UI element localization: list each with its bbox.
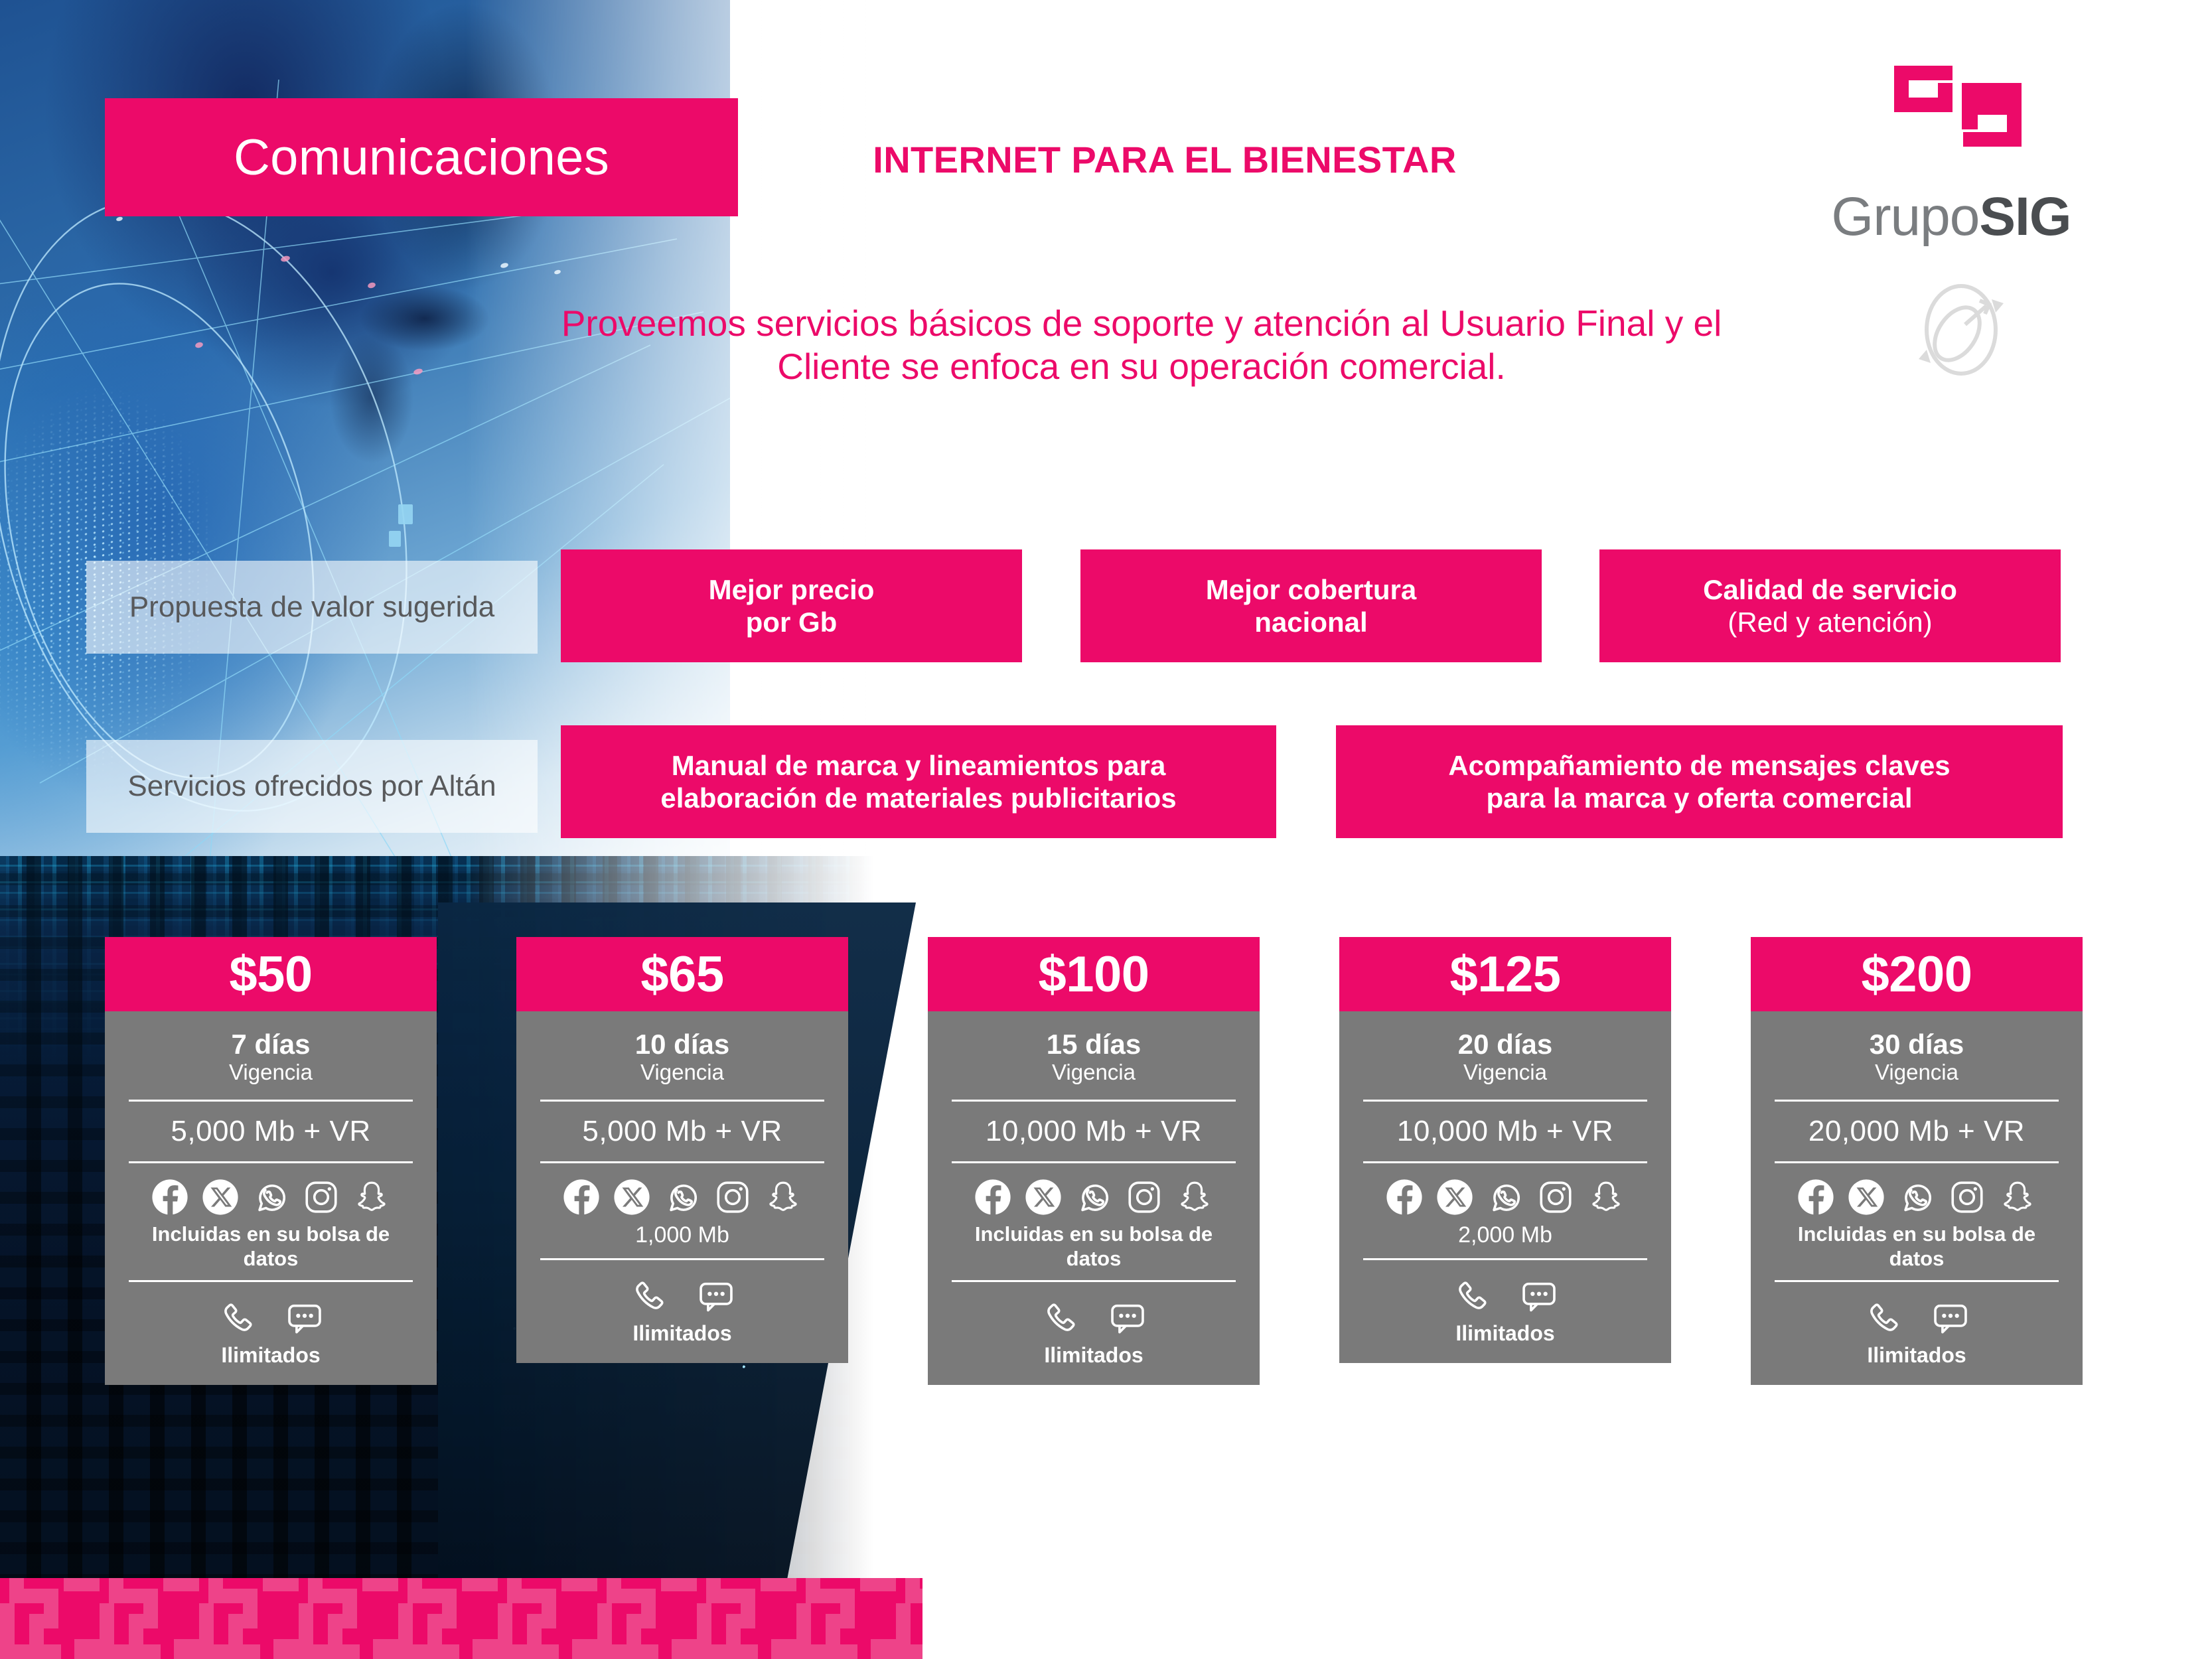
x-twitter-icon: [1436, 1178, 1474, 1216]
headline: INTERNET PARA EL BIENESTAR: [750, 138, 1580, 181]
whatsapp-icon: [663, 1178, 701, 1216]
chat-bubble-icon: [285, 1299, 324, 1338]
communication-icons-row: [218, 1299, 324, 1338]
chat-bubble-icon: [697, 1277, 735, 1316]
social-note: Incluidas en su bolsa de datos: [129, 1222, 413, 1271]
whatsapp-icon: [1074, 1178, 1113, 1216]
value-prop-1-line2: por Gb: [709, 606, 875, 638]
instagram-icon: [1125, 1178, 1163, 1216]
social-icons-row: [1385, 1178, 1625, 1216]
divider: [129, 1161, 413, 1163]
price-card-body: 7 días Vigencia 5,000 Mb + VR Incluidas …: [105, 1011, 437, 1385]
brand-word-grupo: Grupo: [1831, 186, 1979, 247]
validity-label: Vigencia: [229, 1060, 313, 1085]
value-prop-box-3[interactable]: Calidad de servicio (Red y atención): [1599, 549, 2061, 662]
chat-bubble-icon: [1520, 1277, 1558, 1316]
communication-icons-row: [1864, 1299, 1970, 1338]
greek-key-tile: [0, 1578, 100, 1659]
greek-key-tile: [398, 1578, 498, 1659]
service-box-1[interactable]: Manual de marca y lineamientos para elab…: [561, 725, 1276, 838]
phone-call-icon: [1864, 1299, 1902, 1338]
instagram-icon: [302, 1178, 340, 1216]
value-prop-2-line1: Mejor cobertura: [1206, 573, 1416, 606]
validity-label: Vigencia: [1875, 1060, 1958, 1085]
x-twitter-icon: [613, 1178, 651, 1216]
slide-canvas: Comunicaciones INTERNET PARA EL BIENESTA…: [0, 0, 2212, 1659]
price-card[interactable]: $100 15 días Vigencia 10,000 Mb + VR Inc…: [928, 937, 1260, 1385]
brand-wordmark: GrupoSIG: [1765, 186, 2137, 248]
social-icons-row: [151, 1178, 391, 1216]
greek-key-tile: [100, 1578, 199, 1659]
phone-call-icon: [1041, 1299, 1079, 1338]
data-allowance: 5,000 Mb + VR: [171, 1111, 370, 1152]
unlimited-label: Ilimitados: [1455, 1321, 1554, 1346]
snapchat-icon: [1998, 1178, 2037, 1216]
price-card-body: 15 días Vigencia 10,000 Mb + VR Incluida…: [928, 1011, 1260, 1385]
price-card-body: 20 días Vigencia 10,000 Mb + VR 2,000 Mb…: [1339, 1011, 1671, 1363]
unlimited-label: Ilimitados: [221, 1343, 320, 1368]
chat-bubble-icon: [1108, 1299, 1147, 1338]
divider: [952, 1100, 1236, 1102]
value-prop-1-line1: Mejor precio: [709, 573, 875, 606]
price-card[interactable]: $125 20 días Vigencia 10,000 Mb + VR 2,0…: [1339, 937, 1671, 1363]
service-1-line2: elaboración de materiales publicitarios: [660, 782, 1176, 814]
communication-icons-row: [1452, 1277, 1558, 1316]
validity-days: 10 días: [635, 1029, 729, 1060]
unlimited-label: Ilimitados: [1867, 1343, 1966, 1368]
brand-logo: GrupoSIG: [1765, 63, 2137, 401]
validity-label: Vigencia: [640, 1060, 724, 1085]
x-twitter-icon: [1024, 1178, 1063, 1216]
data-allowance: 10,000 Mb + VR: [986, 1111, 1202, 1152]
divider: [540, 1161, 824, 1163]
brand-word-sig: SIG: [1979, 186, 2071, 247]
page-title-chip: Comunicaciones: [105, 98, 738, 216]
social-note: Incluidas en su bolsa de datos: [1775, 1222, 2059, 1271]
divider: [1363, 1161, 1647, 1163]
service-box-2[interactable]: Acompañamiento de mensajes claves para l…: [1336, 725, 2063, 838]
row-label-propuesta-de-valor: Propuesta de valor sugerida: [86, 561, 538, 654]
chat-bubble-icon: [1931, 1299, 1970, 1338]
x-twitter-icon: [1847, 1178, 1885, 1216]
divider: [952, 1161, 1236, 1163]
data-allowance: 5,000 Mb + VR: [582, 1111, 782, 1152]
facebook-icon: [974, 1178, 1012, 1216]
validity-days: 30 días: [1870, 1029, 1964, 1060]
whatsapp-icon: [1486, 1178, 1524, 1216]
price-card-body: 10 días Vigencia 5,000 Mb + VR 1,000 Mb …: [516, 1011, 848, 1363]
communication-icons-row: [629, 1277, 735, 1316]
validity-label: Vigencia: [1463, 1060, 1547, 1085]
communication-icons-row: [1041, 1299, 1147, 1338]
price-card-price: $50: [105, 937, 437, 1011]
snapchat-icon: [1175, 1178, 1214, 1216]
snapchat-icon: [764, 1178, 802, 1216]
subheadline: Proveemos servicios básicos de soporte y…: [511, 302, 1772, 388]
validity-days: 20 días: [1458, 1029, 1552, 1060]
value-prop-3-line2: (Red y atención): [1703, 606, 1957, 638]
validity-label: Vigencia: [1052, 1060, 1136, 1085]
price-card[interactable]: $200 30 días Vigencia 20,000 Mb + VR Inc…: [1751, 937, 2083, 1385]
row-label-servicios-ofrecidos: Servicios ofrecidos por Altán: [86, 740, 538, 833]
price-card-price: $65: [516, 937, 848, 1011]
divider: [1775, 1280, 2059, 1282]
phone-call-icon: [1452, 1277, 1491, 1316]
satellite-dish-icon: [1908, 275, 2014, 382]
facebook-icon: [1385, 1178, 1424, 1216]
validity-days: 15 días: [1047, 1029, 1141, 1060]
data-allowance: 20,000 Mb + VR: [1808, 1111, 2025, 1152]
divider: [1775, 1100, 2059, 1102]
divider: [1363, 1258, 1647, 1260]
divider: [952, 1280, 1236, 1282]
divider: [1363, 1100, 1647, 1102]
facebook-icon: [1797, 1178, 1835, 1216]
greek-key-tile: [796, 1578, 896, 1659]
divider: [1775, 1161, 2059, 1163]
facebook-icon: [562, 1178, 601, 1216]
divider: [540, 1100, 824, 1102]
phone-call-icon: [629, 1277, 668, 1316]
price-card-body: 30 días Vigencia 20,000 Mb + VR Incluida…: [1751, 1011, 2083, 1385]
greek-key-pattern-band: [0, 1578, 922, 1659]
greek-key-tile: [199, 1578, 299, 1659]
value-prop-box-1[interactable]: Mejor precio por Gb: [561, 549, 1022, 662]
service-2-line1: Acompañamiento de mensajes claves: [1448, 749, 1950, 782]
price-card-price: $200: [1751, 937, 2083, 1011]
price-card-price: $125: [1339, 937, 1671, 1011]
value-prop-3-line1: Calidad de servicio: [1703, 573, 1957, 606]
value-prop-2-line2: nacional: [1206, 606, 1416, 638]
facebook-icon: [151, 1178, 189, 1216]
unlimited-label: Ilimitados: [1044, 1343, 1143, 1368]
value-prop-box-2[interactable]: Mejor cobertura nacional: [1080, 549, 1542, 662]
x-twitter-icon: [201, 1178, 240, 1216]
price-card[interactable]: $65 10 días Vigencia 5,000 Mb + VR 1,000…: [516, 937, 848, 1363]
social-icons-row: [1797, 1178, 2037, 1216]
service-1-line1: Manual de marca y lineamientos para: [660, 749, 1176, 782]
service-2-line2: para la marca y oferta comercial: [1448, 782, 1950, 814]
page-title: Comunicaciones: [234, 129, 609, 186]
instagram-icon: [1948, 1178, 1986, 1216]
whatsapp-icon: [252, 1178, 290, 1216]
phone-call-icon: [218, 1299, 256, 1338]
unlimited-label: Ilimitados: [632, 1321, 731, 1346]
grupo-sig-mark-icon: [1891, 63, 2024, 149]
whatsapp-icon: [1897, 1178, 1936, 1216]
greek-key-tile: [597, 1578, 697, 1659]
snapchat-icon: [352, 1178, 391, 1216]
price-card[interactable]: $50 7 días Vigencia 5,000 Mb + VR Inclui…: [105, 937, 437, 1385]
social-note: 1,000 Mb: [635, 1222, 729, 1249]
instagram-icon: [1536, 1178, 1575, 1216]
divider: [129, 1100, 413, 1102]
social-note: 2,000 Mb: [1458, 1222, 1552, 1249]
instagram-icon: [713, 1178, 752, 1216]
price-card-price: $100: [928, 937, 1260, 1011]
data-allowance: 10,000 Mb + VR: [1397, 1111, 1613, 1152]
greek-key-tile: [896, 1578, 922, 1659]
greek-key-tile: [697, 1578, 796, 1659]
social-icons-row: [974, 1178, 1214, 1216]
social-note: Incluidas en su bolsa de datos: [952, 1222, 1236, 1271]
greek-key-tile: [498, 1578, 597, 1659]
validity-days: 7 días: [231, 1029, 310, 1060]
divider: [129, 1280, 413, 1282]
divider: [540, 1258, 824, 1260]
social-icons-row: [562, 1178, 802, 1216]
snapchat-icon: [1587, 1178, 1625, 1216]
greek-key-tile: [299, 1578, 398, 1659]
